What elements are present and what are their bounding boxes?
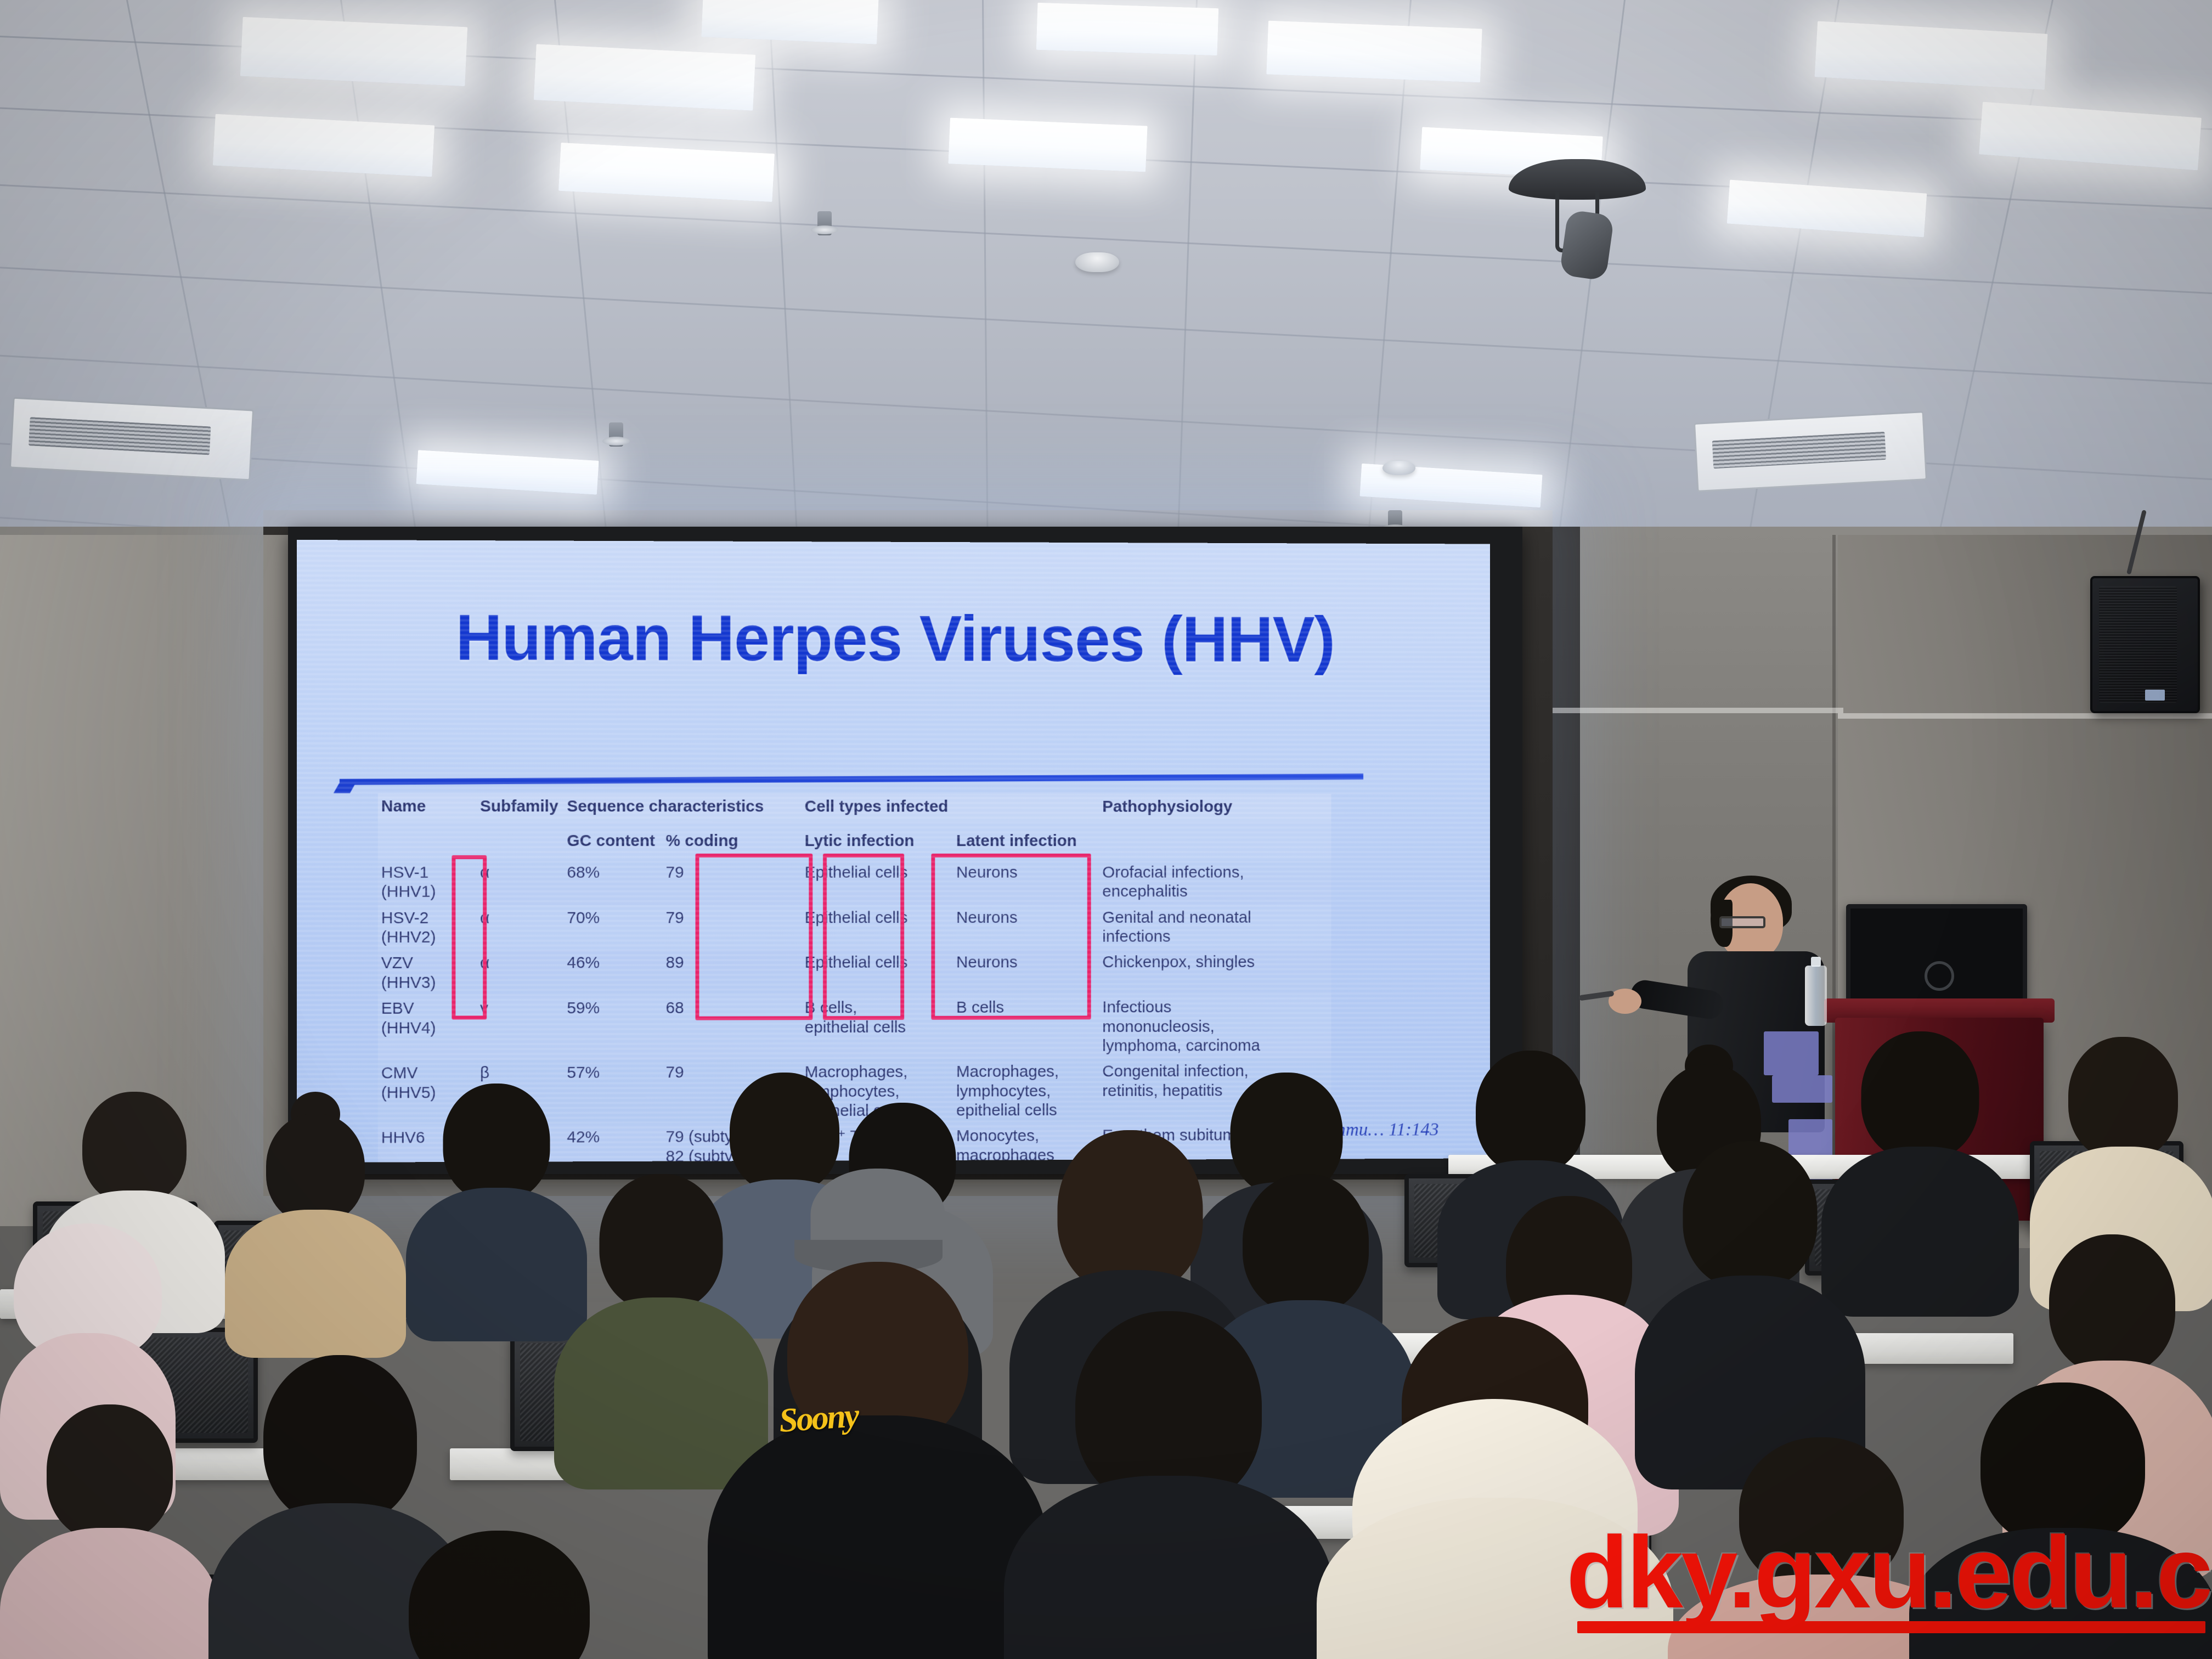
ceiling-light-panel xyxy=(1266,21,1482,83)
cell-subfamily: α xyxy=(477,950,564,996)
sprinkler-head xyxy=(609,422,623,447)
cell-gc: 46% xyxy=(564,950,663,996)
cell-coding: 79 xyxy=(663,860,802,905)
cell-gc: 68% xyxy=(564,860,663,905)
cell-lytic: Epithelial cells xyxy=(802,860,953,905)
speaker-grille xyxy=(2099,586,2177,703)
th-latent: Latent infection xyxy=(953,822,1099,860)
cell-lytic: B cells, epithelial cells xyxy=(802,995,953,1059)
head xyxy=(1683,1141,1818,1289)
cell-subfamily: γ xyxy=(477,995,564,1060)
cell-latent: Neurons xyxy=(953,905,1099,950)
table-header-group-row: Name Subfamily Sequence characteristics … xyxy=(378,793,1331,822)
slide-title: Human Herpes Viruses (HHV) xyxy=(328,600,1460,677)
attendee-pink-puffer xyxy=(0,1404,219,1659)
th-blank-3 xyxy=(1099,822,1331,860)
th-pct-coding: % coding xyxy=(663,822,802,860)
wall-speaker xyxy=(2090,576,2200,713)
torso xyxy=(0,1528,219,1659)
speaker-badge xyxy=(2145,690,2165,701)
ceiling-light-panel xyxy=(1727,180,1927,238)
attendee-long-hair-black xyxy=(1004,1311,1333,1659)
attendee-dark-coat xyxy=(329,1531,669,1659)
cell-lytic: Epithelial cells xyxy=(802,950,953,995)
head xyxy=(2068,1037,2178,1160)
head xyxy=(82,1092,187,1204)
head xyxy=(47,1404,173,1542)
presenter-glasses xyxy=(1719,916,1765,928)
presenter-monitor xyxy=(1846,904,2027,1014)
ceiling-light-panel xyxy=(1979,101,2202,170)
cell-name: EBV (HHV4) xyxy=(378,996,477,1060)
lecture-hall-photo: Human Herpes Viruses (HHV) Name Subfamil… xyxy=(0,0,2212,1659)
head xyxy=(443,1084,550,1201)
torso xyxy=(1004,1476,1333,1659)
attendee-black-hoodie: Soony xyxy=(708,1262,1048,1659)
th-gc-content: GC content xyxy=(564,822,663,860)
torso xyxy=(708,1415,1048,1659)
wall-trim xyxy=(1553,708,1843,713)
cell-latent: Neurons xyxy=(953,860,1099,905)
table-row: HSV-1 (HHV1) α 68% 79 Epithelial cells N… xyxy=(378,860,1331,905)
head xyxy=(266,1114,365,1223)
cell-name: HSV-1 (HHV1) xyxy=(378,860,477,905)
head xyxy=(2049,1234,2175,1374)
cell-subfamily: α xyxy=(477,860,564,905)
th-lytic: Lytic infection xyxy=(802,822,953,860)
attendee-tan-coat xyxy=(225,1108,406,1339)
cell-coding: 79 xyxy=(663,905,802,950)
ceiling-light-panel xyxy=(534,44,756,110)
cell-gc: 70% xyxy=(564,905,663,950)
wall-trim xyxy=(1838,713,2212,719)
watermark-text: dky.gxu.edu.cn xyxy=(1566,1514,2212,1631)
head xyxy=(263,1355,417,1525)
ceiling-security-camera xyxy=(1509,159,1646,285)
cell-name: HSV-2 (HHV2) xyxy=(378,905,477,950)
ceiling-light-panel xyxy=(1814,21,2047,89)
head xyxy=(1861,1031,1979,1160)
th-pathophysiology: Pathophysiology xyxy=(1099,794,1331,822)
th-blank-1 xyxy=(378,821,477,859)
cell-latent: B cells xyxy=(953,995,1099,1059)
projection-screen: Human Herpes Viruses (HHV) Name Subfamil… xyxy=(297,540,1490,1163)
hoodie-graphic-text: Soony xyxy=(778,1396,859,1441)
cell-patho: Genital and neonatal infections xyxy=(1099,904,1331,949)
table-row: EBV (HHV4) γ 59% 68 B cells, epithelial … xyxy=(378,994,1331,1060)
ceiling-light-panel xyxy=(240,17,467,86)
ceiling-light-panel xyxy=(1036,3,1219,55)
cell-latent: Neurons xyxy=(953,950,1099,995)
cell-lytic: Epithelial cells xyxy=(802,905,953,950)
ceiling xyxy=(0,0,2212,554)
cell-patho: Orofacial infections, encephalitis xyxy=(1099,860,1331,905)
ceiling-light-panel xyxy=(701,0,878,44)
ceiling-light-panel xyxy=(416,450,599,494)
cell-coding: 68 xyxy=(663,995,802,1060)
table-header-sub-row: GC content % coding Lytic infection Late… xyxy=(378,821,1331,859)
hvac-ceiling-vent xyxy=(9,397,254,481)
ceiling-light-panel xyxy=(948,117,1147,172)
table-row: HSV-2 (HHV2) α 70% 79 Epithelial cells N… xyxy=(378,904,1331,950)
cell-patho: Infectious mononucleosis, lymphoma, carc… xyxy=(1099,994,1331,1059)
th-cells: Cell types infected xyxy=(802,794,1099,822)
presentation-slide: Human Herpes Viruses (HHV) Name Subfamil… xyxy=(297,540,1490,1163)
ceiling-light-panel xyxy=(213,114,435,177)
sprinkler-head xyxy=(817,211,832,235)
ceiling-light-panel xyxy=(558,143,775,202)
cell-name: VZV (HHV3) xyxy=(378,950,477,996)
head xyxy=(1243,1174,1369,1314)
smoke-detector xyxy=(1075,252,1119,272)
th-sequence: Sequence characteristics xyxy=(564,793,802,821)
th-name: Name xyxy=(378,793,477,821)
head xyxy=(600,1174,723,1311)
smoke-detector xyxy=(1383,461,1415,475)
th-blank-2 xyxy=(477,821,564,859)
table-row: VZV (HHV3) α 46% 89 Epithelial cells Neu… xyxy=(378,949,1331,996)
watermark-bar xyxy=(1577,1621,2205,1633)
hvac-ceiling-vent xyxy=(1694,411,1927,492)
slide-divider-rule xyxy=(340,774,1363,785)
th-subfamily: Subfamily xyxy=(477,793,564,821)
water-bottle xyxy=(1805,966,1827,1026)
cell-subfamily: α xyxy=(477,905,564,950)
head xyxy=(1476,1051,1585,1174)
cell-coding: 89 xyxy=(663,950,802,995)
torso xyxy=(225,1210,406,1358)
cell-patho: Chickenpox, shingles xyxy=(1099,949,1331,995)
head xyxy=(409,1531,590,1659)
cell-gc: 59% xyxy=(564,995,663,1060)
